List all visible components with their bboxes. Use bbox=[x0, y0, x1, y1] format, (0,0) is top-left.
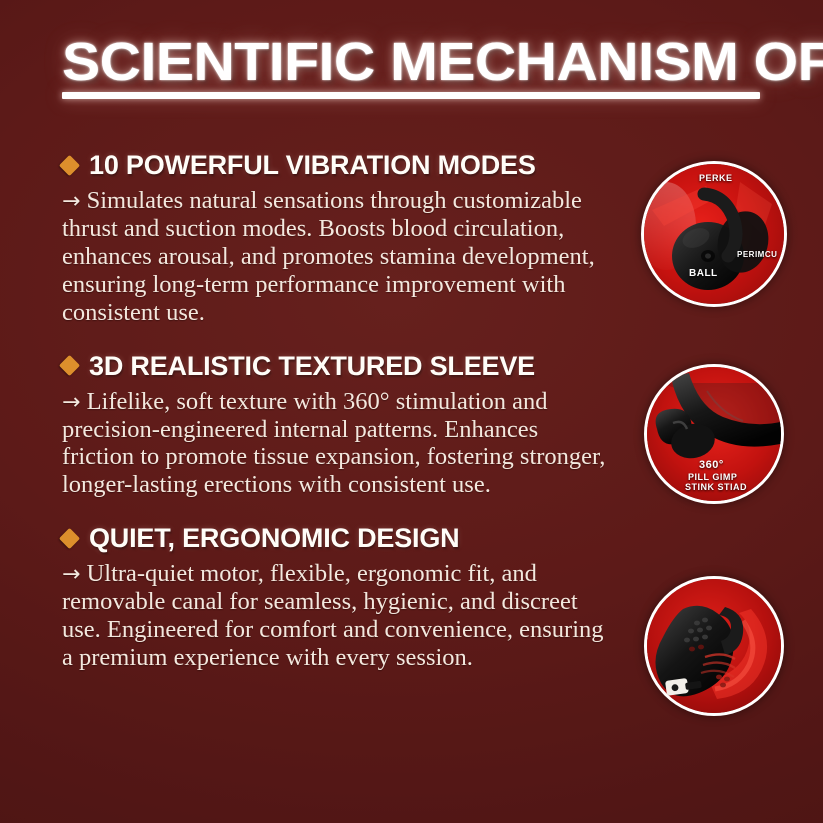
title-underline-rule bbox=[62, 92, 760, 99]
feature-item-3: QUIET, ERGONOMIC DESIGN → Ultra-quiet mo… bbox=[62, 523, 622, 672]
photo-1-caption-3: BALL bbox=[689, 268, 718, 279]
arrow-right-icon: → bbox=[62, 390, 80, 415]
feature-body-text-1: Simulates natural sensations through cus… bbox=[62, 187, 595, 326]
product-photo-vibration-modes: PERKE PERIMCU BALL bbox=[641, 161, 787, 307]
feature-body-2: → Lifelike, soft texture with 360° stimu… bbox=[62, 388, 614, 500]
arrow-right-icon: → bbox=[62, 189, 80, 214]
feature-body-text-3: Ultra-quiet motor, flexible, ergonomic f… bbox=[62, 560, 604, 671]
diamond-bullet-icon bbox=[59, 154, 80, 175]
feature-heading-row-2: 3D REALISTIC TEXTURED SLEEVE bbox=[62, 351, 622, 381]
photo-2-caption-line1: PILL GIMP bbox=[688, 472, 737, 482]
photo-3-svg bbox=[647, 579, 781, 713]
feature-body-1: → Simulates natural sensations through c… bbox=[62, 187, 614, 327]
feature-body-text-2: Lifelike, soft texture with 360° stimula… bbox=[62, 388, 605, 499]
feature-heading-1: 10 POWERFUL VIBRATION MODES bbox=[89, 150, 536, 180]
photo-2-caption-line2: STINK STIAD bbox=[685, 482, 747, 492]
feature-item-1: 10 POWERFUL VIBRATION MODES → Simulates … bbox=[62, 150, 622, 327]
arrow-right-icon: → bbox=[62, 562, 80, 587]
photo-3-art bbox=[647, 579, 781, 713]
feature-list: 10 POWERFUL VIBRATION MODES → Simulates … bbox=[62, 150, 622, 688]
photo-1-svg bbox=[644, 164, 784, 304]
page-title-block: SCIENTIFIC MECHANISM OF ACTION bbox=[62, 34, 762, 90]
feature-heading-row-3: QUIET, ERGONOMIC DESIGN bbox=[62, 523, 622, 553]
feature-heading-3: QUIET, ERGONOMIC DESIGN bbox=[89, 523, 459, 553]
page-title: SCIENTIFIC MECHANISM OF ACTION bbox=[62, 34, 804, 90]
diamond-bullet-icon bbox=[59, 528, 80, 549]
photo-1-caption-2: PERIMCU bbox=[737, 250, 777, 259]
photo-2-caption-degree: 360° bbox=[699, 459, 724, 471]
feature-item-2: 3D REALISTIC TEXTURED SLEEVE → Lifelike,… bbox=[62, 351, 622, 500]
photo-1-art bbox=[644, 164, 784, 304]
feature-heading-row-1: 10 POWERFUL VIBRATION MODES bbox=[62, 150, 622, 180]
product-photo-ergonomic-design bbox=[644, 576, 784, 716]
feature-heading-2: 3D REALISTIC TEXTURED SLEEVE bbox=[89, 351, 535, 381]
photo-1-caption-1: PERKE bbox=[699, 173, 733, 183]
feature-body-3: → Ultra-quiet motor, flexible, ergonomic… bbox=[62, 560, 614, 672]
product-photo-textured-sleeve: 360° PILL GIMP STINK STIAD bbox=[644, 364, 784, 504]
diamond-bullet-icon bbox=[59, 355, 80, 376]
poster-canvas: SCIENTIFIC MECHANISM OF ACTION 10 POWERF… bbox=[0, 0, 823, 823]
